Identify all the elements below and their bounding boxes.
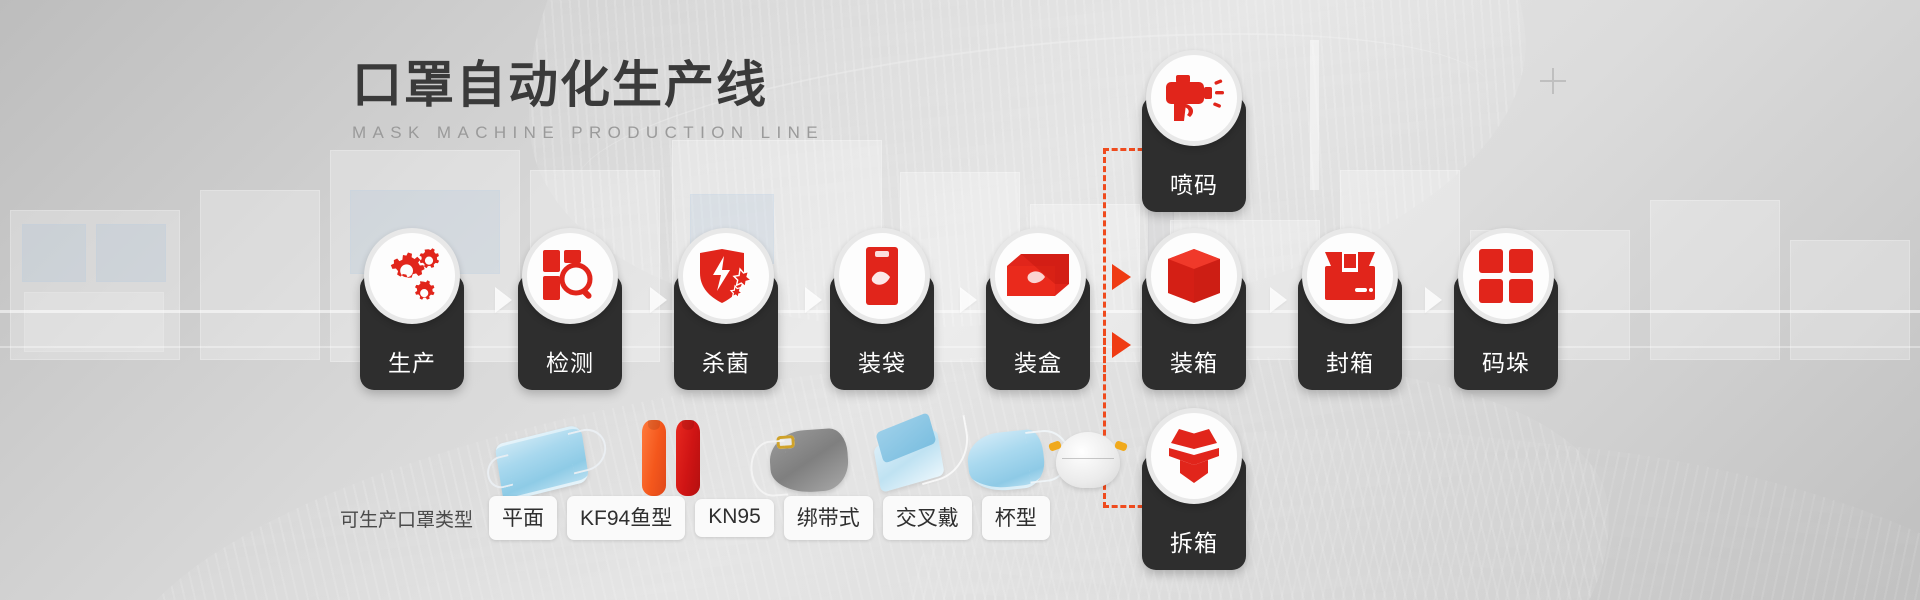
mask-type-chip-cup[interactable]: 杯型: [982, 496, 1050, 540]
page-title: 口罩自动化生产线: [352, 58, 824, 113]
sealed-box-icon: [1302, 228, 1398, 324]
banner-stage: 口罩自动化生产线 MASK MACHINE PRODUCTION LINE 生产: [0, 0, 1920, 600]
flow-arrow-6: [1425, 287, 1442, 313]
mask-product-photos: [490, 408, 1050, 500]
node-label: 拆箱: [1142, 524, 1246, 558]
red-arrow-lower: [1112, 332, 1131, 358]
flow-arrow-4: [960, 287, 977, 313]
node-label: 码垛: [1454, 344, 1558, 378]
plus-marker-icon: [1540, 68, 1566, 94]
flow-arrow-5: [1270, 287, 1287, 313]
kf94-fish-type-mask-photo-red: [676, 420, 700, 496]
mask-type-chip-tie[interactable]: 绑带式: [784, 496, 873, 540]
node-label: 封箱: [1298, 344, 1402, 378]
tie-band-mask-photo: [873, 429, 944, 493]
node-label: 杀菌: [674, 344, 778, 378]
cross-wear-mask-photo: [965, 428, 1047, 494]
flow-arrow-1: [495, 287, 512, 313]
mask-type-chip-flat[interactable]: 平面: [489, 496, 557, 540]
flow-arrow-2: [650, 287, 667, 313]
flat-surgical-mask-photo: [495, 424, 590, 503]
node-label: 装盒: [986, 344, 1090, 378]
mask-type-chip-kn95[interactable]: KN95: [695, 499, 774, 537]
carton-box-icon: [990, 228, 1086, 324]
magnifier-inspection-icon: [522, 228, 618, 324]
shield-sterilize-icon: [678, 228, 774, 324]
open-box-icon: [1146, 408, 1242, 504]
node-label: 检测: [518, 344, 622, 378]
cup-type-mask-photo: [1056, 432, 1120, 488]
node-label: 装袋: [830, 344, 934, 378]
node-label: 装箱: [1142, 344, 1246, 378]
bagging-icon: [834, 228, 930, 324]
mask-types-caption: 可生产口罩类型: [340, 505, 473, 532]
conveyor-rail-watermark-2: [0, 346, 1920, 348]
flow-arrow-3: [805, 287, 822, 313]
mask-type-chip-cross[interactable]: 交叉戴: [883, 496, 972, 540]
inkjet-spray-gun-icon: [1146, 50, 1242, 146]
mask-types-row: 可生产口罩类型 平面 KF94鱼型 KN95 绑带式 交叉戴 杯型: [340, 496, 1050, 540]
heading-block: 口罩自动化生产线 MASK MACHINE PRODUCTION LINE: [352, 58, 824, 143]
pole-watermark: [1310, 40, 1319, 190]
closed-carton-icon: [1146, 228, 1242, 324]
palletizing-grid-icon: [1458, 228, 1554, 324]
node-label: 生产: [360, 344, 464, 378]
gears-icon: [364, 228, 460, 324]
node-label: 喷码: [1142, 166, 1246, 200]
page-subtitle: MASK MACHINE PRODUCTION LINE: [352, 123, 824, 143]
mask-type-chip-kf94[interactable]: KF94鱼型: [567, 496, 685, 540]
red-arrow-upper: [1112, 264, 1131, 290]
kn95-valve-mask-photo: [768, 427, 850, 494]
kf94-fish-type-mask-photo-orange: [642, 420, 666, 496]
